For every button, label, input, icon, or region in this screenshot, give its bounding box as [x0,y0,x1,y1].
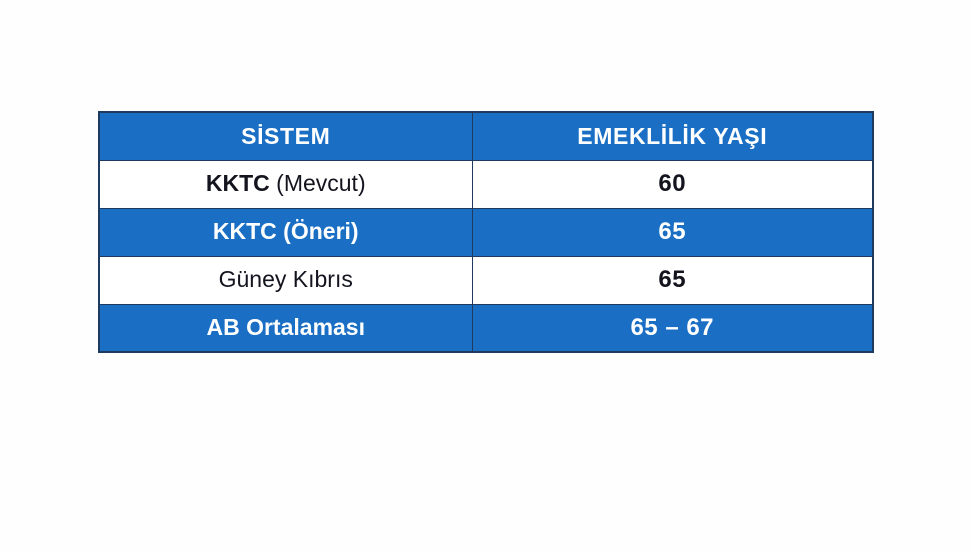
table-header-row: SİSTEM EMEKLİLİK YAŞI [99,112,873,160]
table-header: SİSTEM EMEKLİLİK YAŞI [99,112,873,160]
cell-value-ab-ortalamasi: 65 – 67 [472,304,873,352]
cell-value-kktc-mevcut: 60 [472,160,873,208]
retirement-age-table: SİSTEM EMEKLİLİK YAŞI KKTC (Mevcut) 60 K… [98,111,874,353]
cell-value-guney-kibris: 65 [472,256,873,304]
table-body: KKTC (Mevcut) 60 KKTC (Öneri) 65 Güney K… [99,160,873,352]
cell-value-kktc-oneri: 65 [472,208,873,256]
system-label-qualifier: (Mevcut) [270,170,366,196]
cell-system-guney-kibris: Güney Kıbrıs [99,256,472,304]
table-row: KKTC (Öneri) 65 [99,208,873,256]
cell-system-kktc-oneri: KKTC (Öneri) [99,208,472,256]
system-label-strong: KKTC [206,170,270,196]
cell-system-kktc-mevcut: KKTC (Mevcut) [99,160,472,208]
column-header-system: SİSTEM [99,112,472,160]
slide-canvas: SİSTEM EMEKLİLİK YAŞI KKTC (Mevcut) 60 K… [0,0,971,551]
cell-system-ab-ortalamasi: AB Ortalaması [99,304,472,352]
table-row: KKTC (Mevcut) 60 [99,160,873,208]
table-row: Güney Kıbrıs 65 [99,256,873,304]
column-header-retirement-age: EMEKLİLİK YAŞI [472,112,873,160]
table-row: AB Ortalaması 65 – 67 [99,304,873,352]
